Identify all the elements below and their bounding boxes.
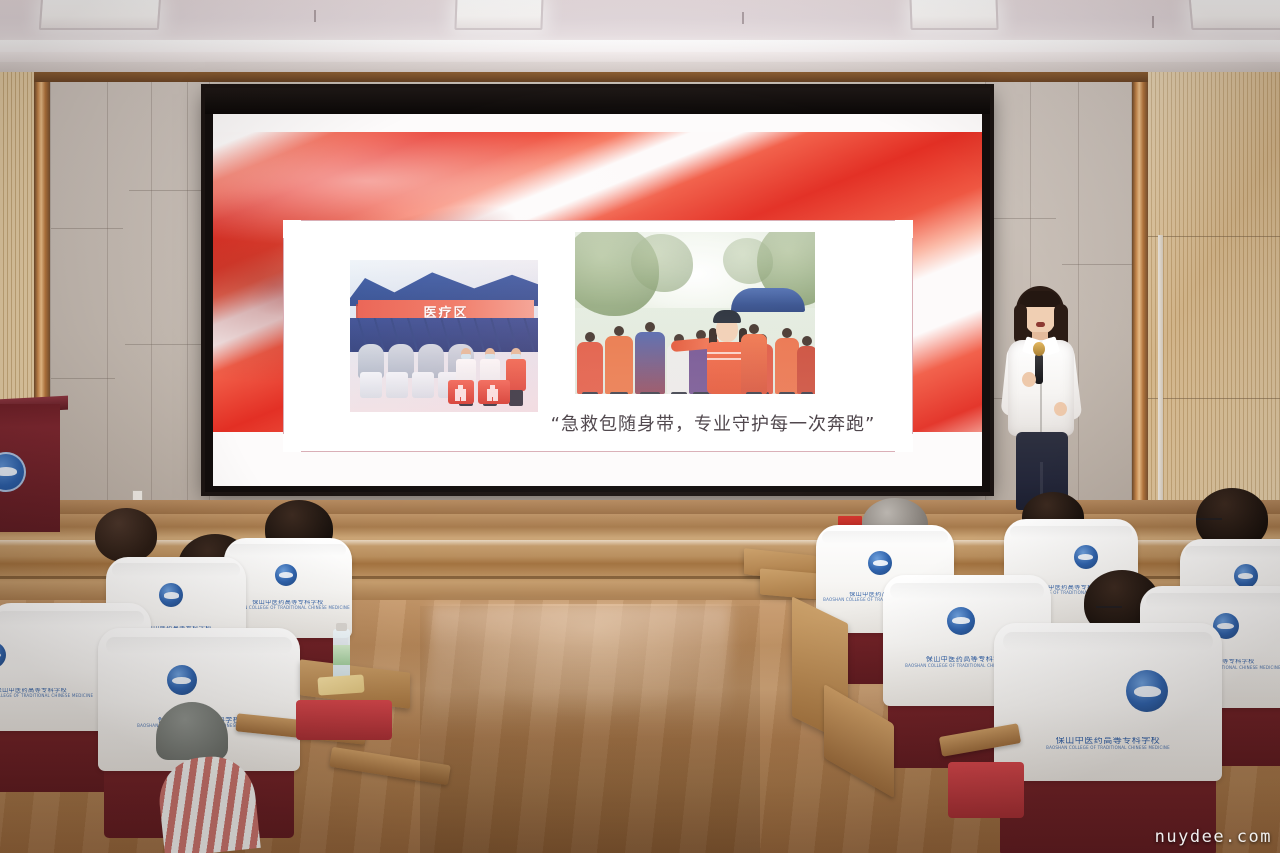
slat-seam [1148, 236, 1280, 237]
hair-fringe [1020, 291, 1060, 307]
school-logo-icon [1126, 670, 1168, 712]
aisle-shadow [420, 606, 760, 853]
school-logo-icon [1074, 545, 1098, 569]
photo-haze [575, 232, 815, 394]
slat-seam [1148, 398, 1280, 399]
wall-top-band [34, 72, 1148, 82]
ceiling-light-panel [39, 0, 161, 30]
ceiling-light-panel [1189, 0, 1280, 30]
photo-haze [350, 260, 538, 412]
school-logo-icon [0, 642, 6, 668]
screen-content: 医疗区 [213, 114, 982, 486]
slide-content-card: 医疗区 [283, 220, 913, 452]
ceiling-pendant [742, 12, 744, 24]
school-logo-icon [1234, 564, 1258, 588]
school-logo-icon [159, 583, 183, 607]
seat-cover-text: 保山中医药高等专科学校 BAOSHAN COLLEGE OF TRADITION… [1007, 737, 1208, 751]
wood-slat-panel-right [1148, 72, 1280, 502]
seat-cushion [948, 762, 1024, 818]
bronze-trim-right [1132, 72, 1148, 502]
school-logo-icon [167, 665, 197, 695]
wall-panel-left [50, 78, 210, 502]
ceiling-light-panel [454, 0, 543, 30]
screen-bezel-top [205, 88, 990, 114]
slat-edge-trim [1158, 235, 1163, 502]
seat-cover-text: 保山中医药高等专科学校 BAOSHAN COLLEGE OF TRADITION… [0, 688, 112, 698]
hand [1022, 372, 1036, 387]
eyeglasses [1096, 606, 1122, 614]
audience-seat[interactable]: 保山中医药高等专科学校 BAOSHAN COLLEGE OF TRADITION… [1000, 636, 1216, 853]
hand [1054, 402, 1067, 416]
ceiling-pendant [314, 10, 316, 22]
presenter [1000, 286, 1084, 510]
seat-cover: 保山中医药高等专科学校 BAOSHAN COLLEGE OF TRADITION… [994, 623, 1223, 781]
microphone-body [1035, 354, 1043, 384]
led-screen: 医疗区 [205, 88, 990, 492]
audience-head [95, 508, 157, 562]
bottle-label [333, 645, 350, 665]
mouth [1036, 322, 1045, 327]
lecture-hall-photo: 医疗区 [0, 0, 1280, 853]
school-logo-icon [868, 551, 892, 575]
snack-package [317, 674, 364, 695]
microphone-icon [1033, 342, 1045, 356]
school-logo-icon [947, 607, 975, 635]
ceiling-light-panel [909, 0, 998, 30]
school-logo-icon [275, 564, 297, 586]
ceiling-pendant [1152, 16, 1154, 28]
seat-cushion [296, 700, 392, 740]
slide-caption: “急救包随身带，专业守护每一次奔跑” [533, 410, 893, 436]
eyeglasses [1196, 518, 1222, 526]
slide-margin-top [213, 114, 982, 132]
slide-photo-marathon [575, 232, 815, 394]
bottle-cap [336, 623, 347, 631]
watermark: nuydee.com [1155, 827, 1272, 847]
slide-photo-medical-tent: 医疗区 [350, 260, 538, 412]
